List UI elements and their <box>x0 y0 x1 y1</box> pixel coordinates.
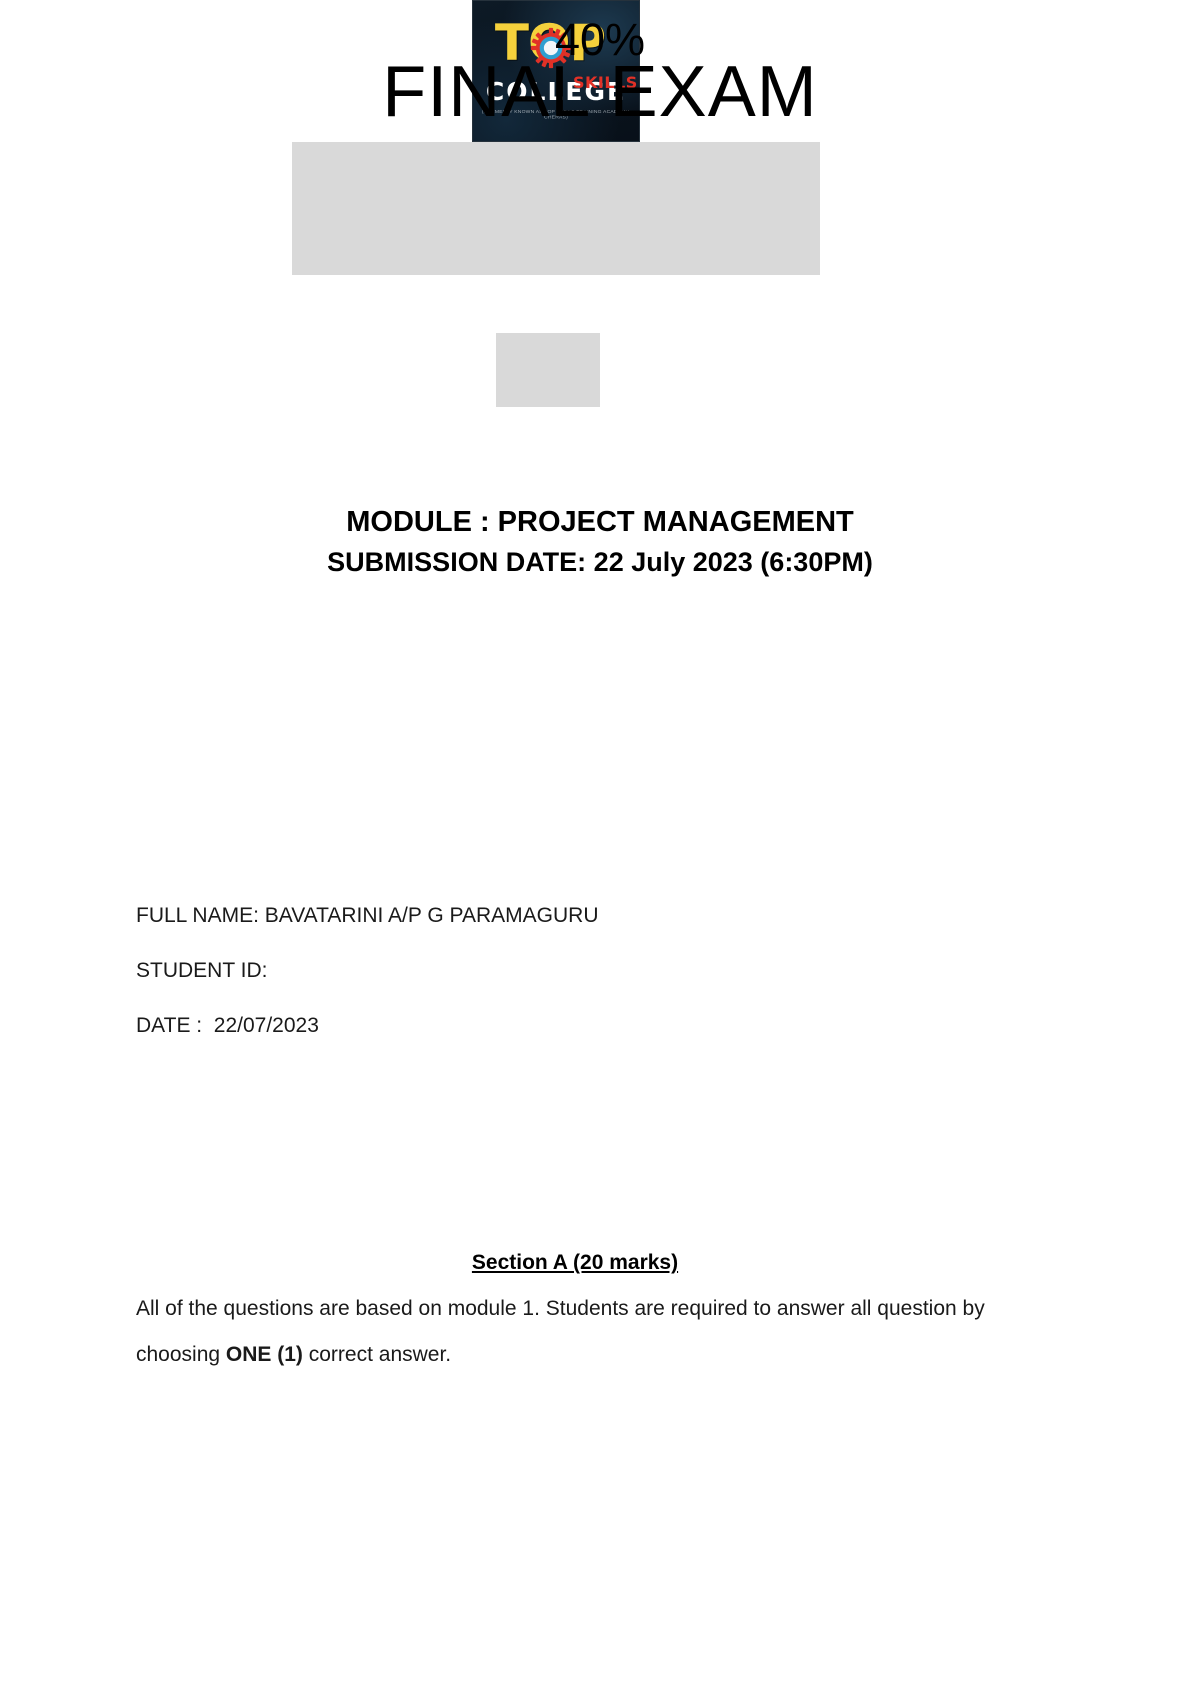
title-highlight-band <box>292 142 820 275</box>
section-a-instructions: All of the questions are based on module… <box>136 1286 1014 1378</box>
student-details-block: FULL NAME: BAVATARINI A/P G PARAMAGURU S… <box>136 888 1076 1053</box>
exam-cover-page: TOP <box>0 0 1200 1698</box>
weightage-value: 40% <box>0 14 1200 66</box>
instructions-emphasis: ONE (1) <box>226 1343 303 1366</box>
submission-date-line: SUBMISSION DATE: 22 July 2023 (6:30PM) <box>0 542 1200 582</box>
section-a-block: Section A (20 marks) All of the question… <box>136 1248 1014 1378</box>
full-name-field: FULL NAME: BAVATARINI A/P G PARAMAGURU <box>136 888 1076 943</box>
date-field: DATE : 22/07/2023 <box>136 998 1076 1053</box>
module-heading-block: MODULE : PROJECT MANAGEMENT SUBMISSION D… <box>0 502 1200 582</box>
student-id-field: STUDENT ID: <box>136 943 1076 998</box>
instructions-part-2: correct answer. <box>303 1343 451 1366</box>
section-a-heading: Section A (20 marks) <box>136 1248 1014 1278</box>
module-name-line: MODULE : PROJECT MANAGEMENT <box>0 502 1200 542</box>
weightage-highlight-band <box>496 333 600 407</box>
